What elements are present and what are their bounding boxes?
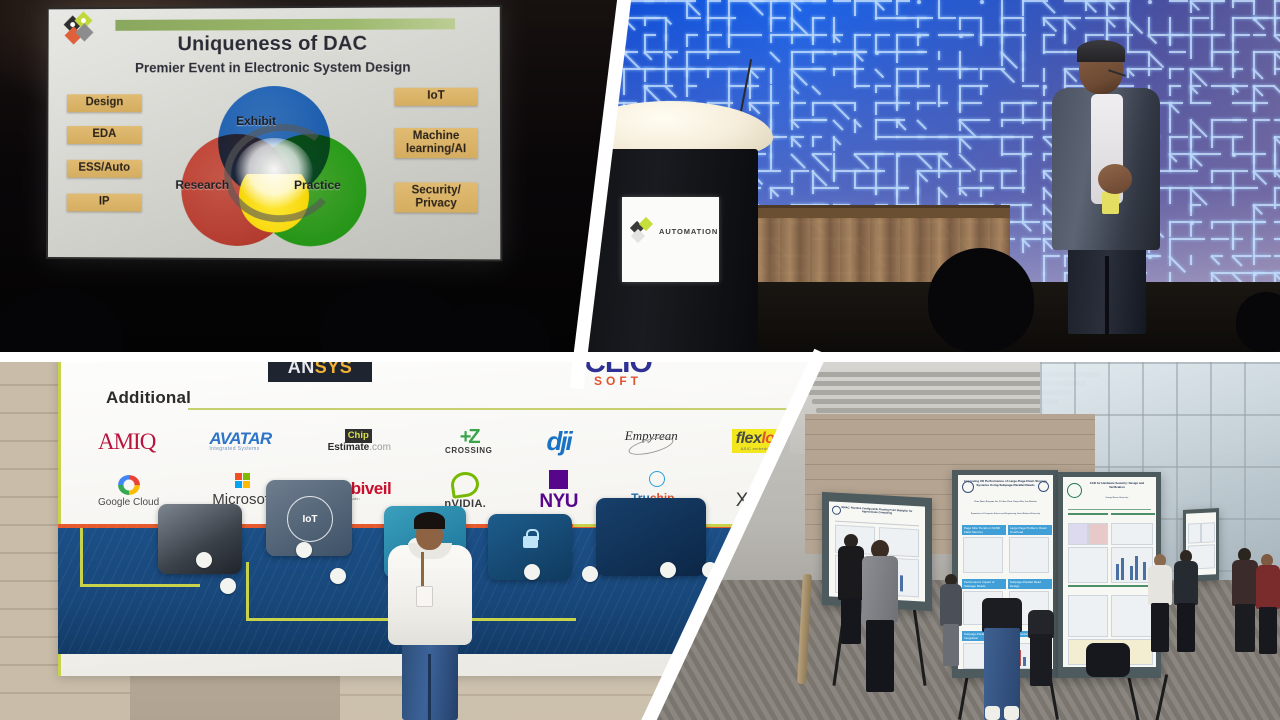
logo-chipestimate: ChipEstimate.com bbox=[326, 429, 391, 453]
google-cloud-icon bbox=[118, 475, 140, 495]
university-seal bbox=[962, 481, 974, 493]
truechip-dot-icon bbox=[649, 471, 665, 487]
connector-node bbox=[296, 542, 312, 558]
attendee-hair bbox=[414, 512, 445, 529]
logo-avatar: AVATARIntegrated Systems bbox=[209, 430, 271, 452]
attendee-viewing-poster bbox=[982, 598, 1022, 720]
logo-google-cloud: Google Cloud bbox=[98, 472, 159, 508]
audience-silhouettes bbox=[0, 236, 640, 352]
connector-node bbox=[196, 552, 212, 568]
audience-head bbox=[0, 288, 122, 352]
microsoft-squares-icon bbox=[235, 473, 251, 489]
chip-ess-auto: ESS/Auto bbox=[67, 160, 142, 178]
speaker-hair bbox=[1077, 40, 1125, 62]
speaker-badge bbox=[1102, 192, 1119, 214]
banner-divider-rule bbox=[188, 408, 798, 410]
poster-figure bbox=[1068, 595, 1108, 637]
attendee bbox=[1148, 554, 1172, 652]
slide-subtitle: Premier Event in Electronic System Desig… bbox=[48, 59, 499, 75]
poster-section-heading: Page Size Trends in NAND Flash Memory bbox=[962, 525, 1006, 535]
poster-figure bbox=[963, 537, 1003, 573]
poster-title: RMAC: Runtime Configurable Floating Poin… bbox=[835, 506, 920, 517]
poster-figure bbox=[1068, 523, 1088, 545]
poster-figure bbox=[1111, 595, 1153, 637]
poster-figure bbox=[1188, 523, 1201, 544]
chip-iot: IoT bbox=[395, 88, 478, 106]
nyu-torch-icon: ⚙ bbox=[549, 470, 568, 489]
poster-title: CAD for Hardware Security: Design and Ve… bbox=[1083, 482, 1150, 490]
podium-sign: AUTOMATION bbox=[622, 197, 719, 282]
backpack bbox=[1086, 643, 1130, 677]
attendee bbox=[1174, 550, 1198, 652]
poster-figure bbox=[1088, 523, 1108, 545]
chip-machine-learning-ai: Machine learning/AI bbox=[395, 128, 478, 158]
slide-title: Uniqueness of DAC bbox=[49, 32, 500, 57]
keynote-speaker bbox=[1046, 42, 1166, 332]
audience-head bbox=[928, 248, 1034, 352]
divider-horizontal bbox=[0, 352, 1280, 362]
attendee-at-banner bbox=[378, 512, 482, 720]
chip-ip: IP bbox=[67, 194, 142, 212]
lock-icon bbox=[523, 536, 538, 548]
speaker-hands bbox=[1098, 164, 1132, 194]
university-seal bbox=[1067, 483, 1082, 498]
logo-nvidia: nVIDIA. bbox=[444, 470, 486, 510]
nvidia-eye-icon bbox=[450, 470, 481, 499]
chip-design: Design bbox=[67, 94, 142, 112]
attendee-holding-tube bbox=[862, 540, 898, 692]
panel-keynote-slide: Uniqueness of DAC Premier Event in Elect… bbox=[0, 0, 640, 352]
connector-line bbox=[80, 528, 83, 586]
logo-amiq: AMIQ bbox=[98, 430, 155, 453]
poster-section-heading: Performance Impact of Subpage Reads bbox=[962, 579, 1006, 589]
poster-figure bbox=[1201, 522, 1215, 543]
attendee bbox=[940, 574, 962, 666]
logo-dji: dji bbox=[546, 428, 570, 454]
poster-figure bbox=[1068, 547, 1108, 583]
venn-label-exhibit: Exhibit bbox=[236, 114, 276, 128]
connector-node bbox=[582, 566, 598, 582]
poster-section-heading: Subpage-Parallel Read Design bbox=[1008, 579, 1052, 589]
connector-node bbox=[660, 562, 676, 578]
chip-eda: EDA bbox=[67, 126, 142, 144]
poster-title: Improving I/O Performance of Large-Page … bbox=[964, 479, 1048, 487]
poster-chart bbox=[1111, 547, 1153, 583]
poster-chart bbox=[1111, 523, 1153, 545]
poster-affiliation: George Mason University bbox=[1083, 497, 1150, 499]
logo-ansys: ANSYS bbox=[268, 362, 372, 382]
slide-accent-bar bbox=[115, 18, 455, 31]
attendee-badge bbox=[416, 586, 433, 607]
poster-section-heading: Large Page Problem: Read Overhead bbox=[1008, 525, 1052, 535]
connector-line bbox=[80, 584, 200, 587]
logo-nyu: ⚙ NYU bbox=[539, 470, 578, 511]
connector-node bbox=[330, 568, 346, 584]
connector-node bbox=[524, 564, 540, 580]
poster-figure bbox=[1009, 537, 1049, 573]
section-label-additional: Additional bbox=[106, 388, 191, 408]
research-poster: CAD for Hardware Security: Design and Ve… bbox=[1063, 477, 1156, 667]
venn-label-research: Research bbox=[175, 178, 229, 192]
attendee bbox=[838, 534, 864, 644]
conference-seal bbox=[1038, 481, 1049, 492]
attendee bbox=[1256, 554, 1280, 654]
dac-diamond-logo bbox=[632, 219, 658, 243]
sponsor-logo-row-1: AMIQ AVATARIntegrated Systems ChipEstima… bbox=[98, 418, 802, 464]
university-seal bbox=[832, 505, 841, 515]
attendee bbox=[1232, 548, 1258, 652]
attendee-jeans bbox=[402, 638, 458, 720]
venn-diagram: Exhibit Research Practice bbox=[181, 86, 366, 249]
photo-collage: Uniqueness of DAC Premier Event in Elect… bbox=[0, 0, 1280, 720]
slide-surface: Uniqueness of DAC Premier Event in Elect… bbox=[48, 7, 500, 259]
speaker-legs bbox=[1068, 242, 1146, 334]
logo-ansys-suffix: SYS bbox=[315, 362, 353, 378]
logo-microsoft: Microsoft bbox=[212, 473, 273, 508]
poster-affiliation: Department of Computer Science and Engin… bbox=[964, 513, 1048, 515]
connector-line bbox=[246, 562, 249, 620]
podium-sign-text: AUTOMATION bbox=[659, 227, 718, 236]
poster-authors: Chun Zhao, Runyuan Liu, Yi-Chun Chen, Ti… bbox=[964, 501, 1048, 503]
chip-security-privacy: Security/ Privacy bbox=[395, 182, 478, 212]
connector-node bbox=[220, 578, 236, 594]
projection-screen: Uniqueness of DAC Premier Event in Elect… bbox=[46, 5, 502, 261]
attendee bbox=[1028, 610, 1054, 686]
logo-xcrossing: +Z CROSSING bbox=[445, 427, 492, 455]
banner-photo-tile bbox=[596, 498, 706, 576]
logo-ansys-prefix: AN bbox=[288, 362, 315, 378]
iot-ring-label: IoT bbox=[287, 496, 333, 542]
attendee-lanyard bbox=[421, 552, 424, 588]
venn-label-practice: Practice bbox=[294, 178, 341, 192]
logo-empyrean: Empyrean bbox=[625, 429, 678, 453]
